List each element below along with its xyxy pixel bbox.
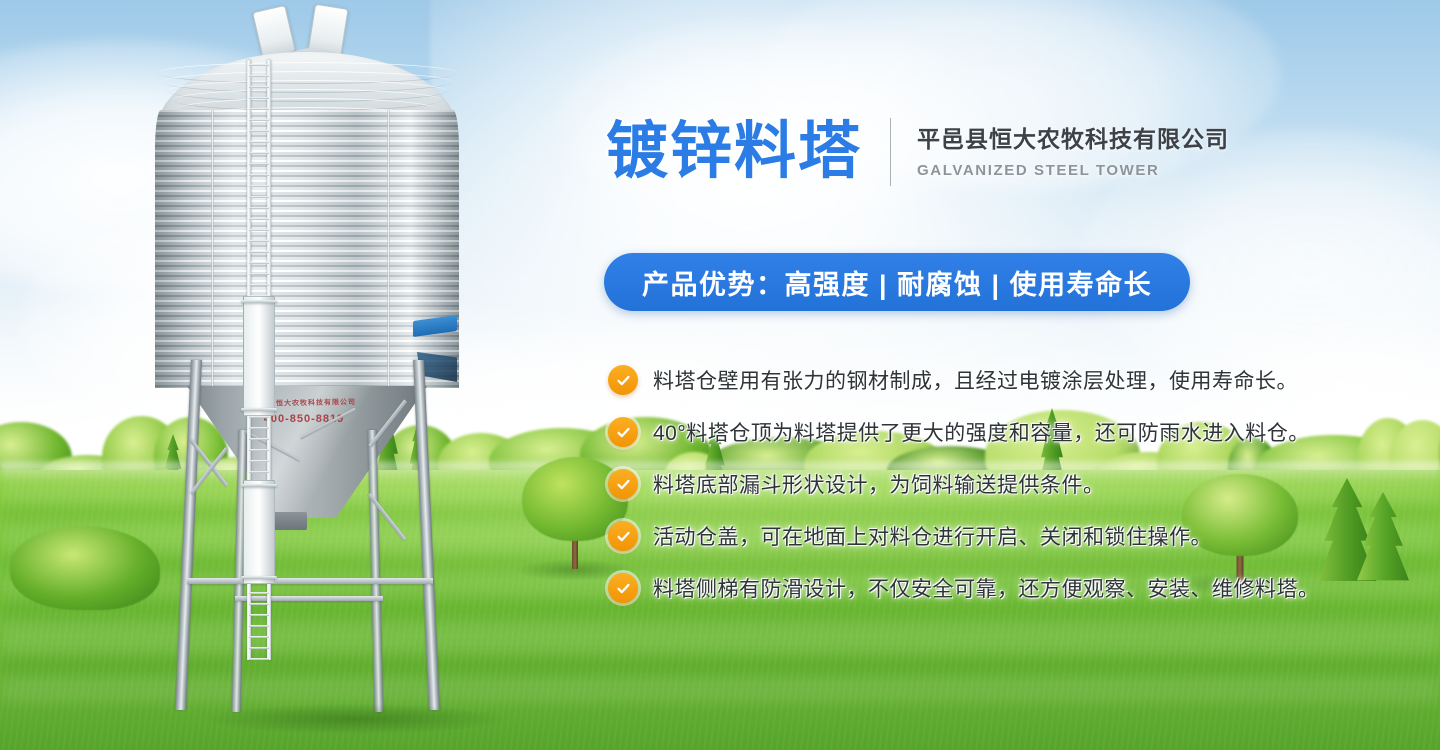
feature-text: 40°料塔仓顶为料塔提供了更大的强度和容量，还可防雨水进入料仓。 [653,417,1310,447]
silo-ladder-rung [249,471,269,473]
silo-ladder-rung [249,416,269,418]
feature-item: 料塔底部漏斗形状设计，为饲料输送提供条件。 [608,459,1438,509]
feature-item: 料塔仓壁用有张力的钢材制成，且经过电镀涂层处理，使用寿命长。 [608,355,1438,405]
silo-body [155,110,459,388]
silo-ladder-rung [249,86,269,88]
silo-ladder-cage [241,408,277,411]
silo-ladder-rung [249,141,269,143]
silo-ground-shadow [205,704,505,734]
feature-text: 料塔侧梯有防滑设计，不仅安全可靠，还方便观察、安装、维修料塔。 [653,573,1320,603]
silo-ladder-rung [249,97,269,99]
silo-leg [413,360,440,710]
check-circle-icon [608,417,638,447]
silo-leg [175,360,202,710]
check-circle-icon [608,573,638,603]
company-name: 平邑县恒大农牧科技有限公司 [917,125,1229,154]
silo-horizontal-rail [187,578,433,584]
silo-ladder-plate [243,296,275,416]
company-block: 平邑县恒大农牧科技有限公司 GALVANIZED STEEL TOWER [917,125,1229,180]
silo-ladder-cage [241,300,277,303]
silo-ladder-rung [249,185,269,187]
silo-ladder-rung [249,152,269,154]
silo-ladder-rung [249,603,269,605]
silo-seam [211,110,214,388]
silo-ladder-rung [249,614,269,616]
silo-ladder-cage [241,484,277,487]
feature-item: 料塔侧梯有防滑设计，不仅安全可靠，还方便观察、安装、维修料塔。 [608,563,1438,613]
feature-list: 料塔仓壁用有张力的钢材制成，且经过电镀涂层处理，使用寿命长。40°料塔仓顶为料塔… [608,355,1438,615]
silo-ladder-rung [249,647,269,649]
silo-ladder-cage [241,576,277,579]
silo-ladder-rung [249,108,269,110]
hero-banner: 平邑县恒大农牧科技有限公司 400-850-8819 [0,0,1440,750]
silo-ladder-rung [249,207,269,209]
feature-text: 料塔底部漏斗形状设计，为饲料输送提供条件。 [653,469,1105,499]
feature-text: 活动仓盖，可在地面上对料仓进行开启、关闭和锁住操作。 [653,521,1212,551]
page-title: 镀锌料塔 [606,121,862,183]
silo-ladder-plate [243,480,275,584]
silo-seam [387,110,390,388]
hero-text-panel: 镀锌料塔 平邑县恒大农牧科技有限公司 GALVANIZED STEEL TOWE… [600,0,1440,750]
silo-ladder-rung [249,460,269,462]
silo-ladder-rung [249,284,269,286]
silo-ladder-rung [249,240,269,242]
silo-ladder-rung [249,449,269,451]
silo-ladder-rung [249,658,269,660]
silo-ladder-rung [249,636,269,638]
silo-lid-flap [252,5,296,59]
silo-ladder-rung [249,273,269,275]
check-circle-icon [608,469,638,499]
silo-ladder-rung [249,130,269,132]
silo-ladder-rung [249,75,269,77]
silo-ladder-rung [249,262,269,264]
silo-ladder-rung [249,163,269,165]
silo-ladder-rung [249,64,269,66]
title-block: 镀锌料塔 平邑县恒大农牧科技有限公司 GALVANIZED STEEL TOWE… [606,118,1229,186]
feature-item: 活动仓盖，可在地面上对料仓进行开启、关闭和锁住操作。 [608,511,1438,561]
silo-leg [368,430,384,712]
silo-ladder-rung [249,427,269,429]
silo-ladder-rung [249,438,269,440]
silo-ladder-rung [249,625,269,627]
galvanized-silo-image: 平邑县恒大农牧科技有限公司 400-850-8819 [95,0,515,750]
silo-ladder-rung [249,592,269,594]
silo-ladder-rung [249,196,269,198]
silo-ladder-rung [249,174,269,176]
silo-ladder-rung [249,229,269,231]
silo-outlet [273,512,307,530]
check-circle-icon [608,365,638,395]
silo-shading [155,110,459,388]
check-circle-icon [608,521,638,551]
advantage-banner: 产品优势：高强度 | 耐腐蚀 | 使用寿命长 [604,253,1190,311]
feature-item: 40°料塔仓顶为料塔提供了更大的强度和容量，还可防雨水进入料仓。 [608,407,1438,457]
silo-ladder-rung [249,251,269,253]
advantage-banner-text: 产品优势：高强度 | 耐腐蚀 | 使用寿命长 [642,263,1152,302]
feature-text: 料塔仓壁用有张力的钢材制成，且经过电镀涂层处理，使用寿命长。 [653,365,1298,395]
title-divider [890,118,891,186]
company-name-en: GALVANIZED STEEL TOWER [917,162,1229,179]
silo-ladder-rung [249,119,269,121]
silo-ladder-rung [249,218,269,220]
